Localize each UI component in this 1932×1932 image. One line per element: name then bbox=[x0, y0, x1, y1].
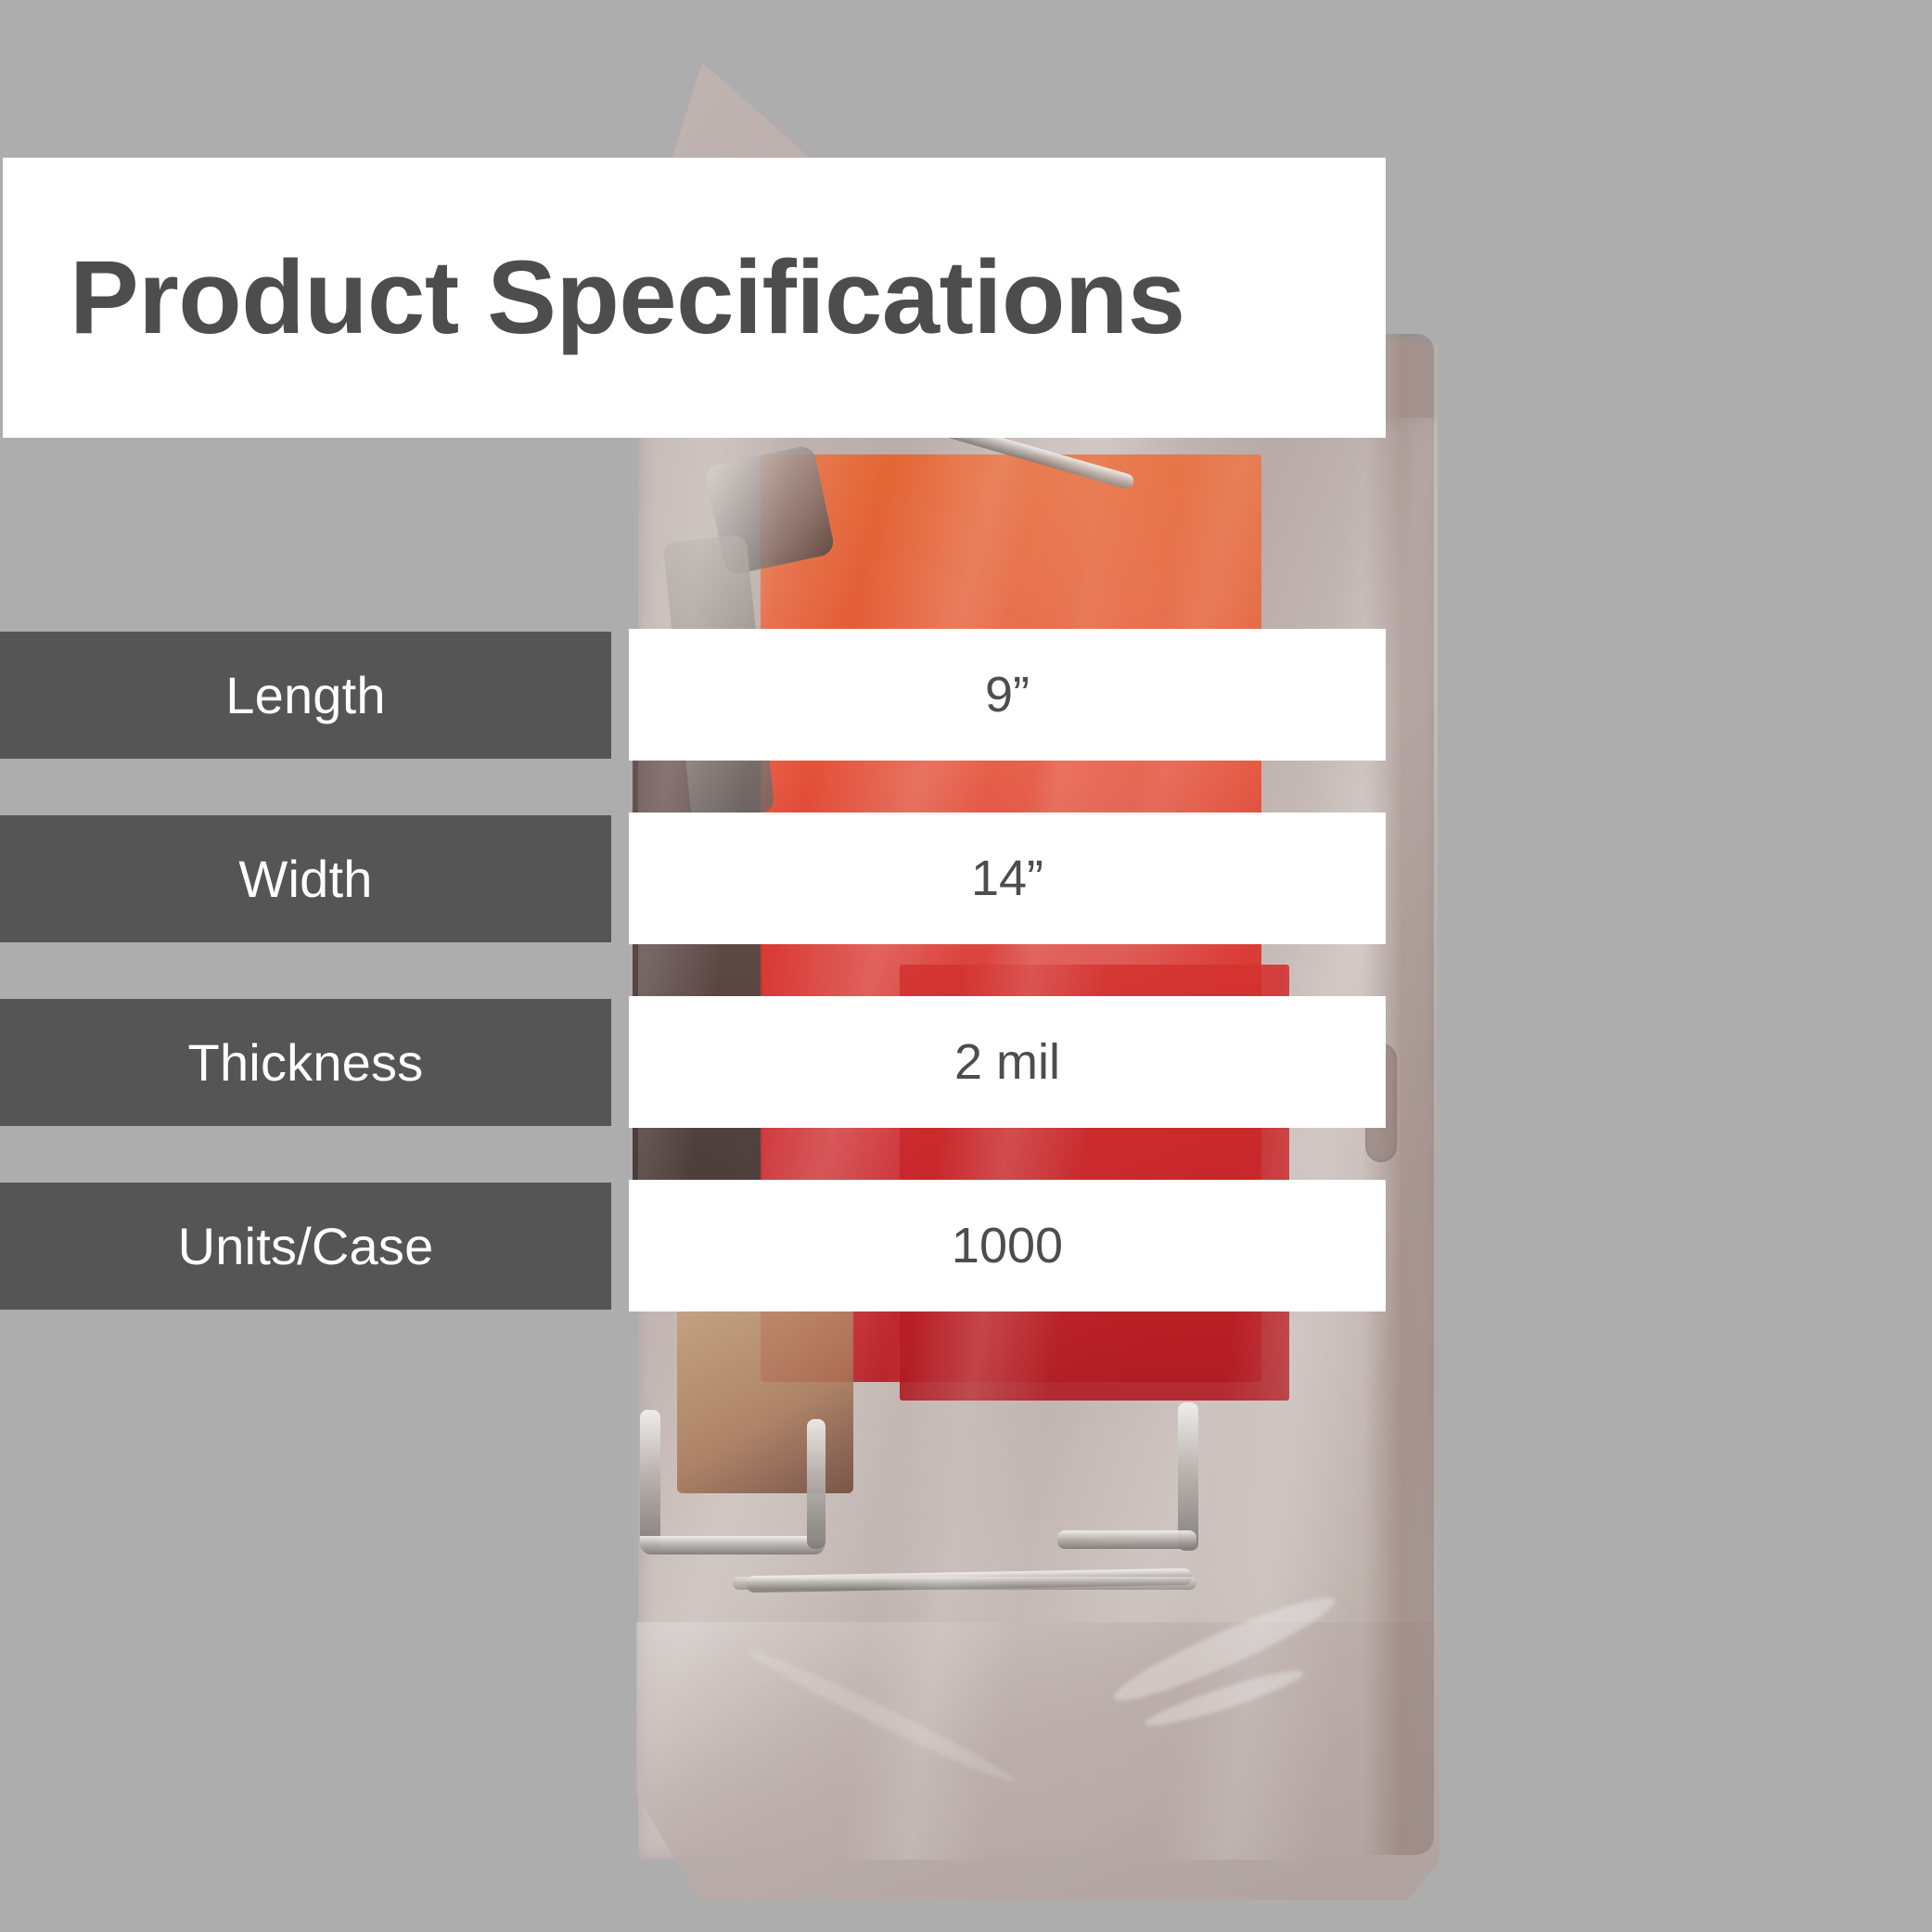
metal-tube-right-leg bbox=[1178, 1402, 1198, 1551]
spec-label-text: Length bbox=[225, 670, 385, 722]
spec-label-text: Thickness bbox=[188, 1037, 424, 1089]
spec-label-text: Units/Case bbox=[178, 1221, 434, 1273]
metal-tube-crossbar-secondary bbox=[733, 1577, 1196, 1590]
table-row: Length 9” bbox=[0, 632, 1391, 815]
spec-label-width: Width bbox=[0, 815, 611, 942]
metal-tube-left-leg bbox=[640, 1410, 660, 1549]
spec-value-units-per-case: 1000 bbox=[629, 1180, 1386, 1311]
table-row: Thickness 2 mil bbox=[0, 999, 1391, 1183]
metal-tube-left-foot bbox=[640, 1536, 825, 1555]
spec-value-width: 14” bbox=[629, 812, 1386, 944]
spec-label-length: Length bbox=[0, 632, 611, 759]
spec-label-text: Width bbox=[238, 853, 372, 905]
table-row: Width 14” bbox=[0, 815, 1391, 999]
spec-label-thickness: Thickness bbox=[0, 999, 611, 1126]
spec-value-text: 2 mil bbox=[954, 1037, 1060, 1087]
bag-bottom-seal bbox=[636, 1622, 1439, 1900]
specifications-table: Length 9” Width 14” Thickness 2 mil bbox=[0, 632, 1391, 1366]
metal-tube-right-foot bbox=[1057, 1530, 1196, 1549]
page-title: Product Specifications bbox=[3, 246, 1185, 350]
product-spec-card: Product Specifications Length 9” Width 1… bbox=[0, 0, 1932, 1932]
table-row: Units/Case 1000 bbox=[0, 1183, 1391, 1366]
spec-value-text: 9” bbox=[985, 670, 1030, 720]
spec-value-length: 9” bbox=[629, 629, 1386, 761]
spec-value-thickness: 2 mil bbox=[629, 996, 1386, 1128]
spec-value-text: 1000 bbox=[952, 1221, 1063, 1271]
metal-tube-left-inner bbox=[807, 1419, 825, 1549]
title-banner: Product Specifications bbox=[3, 158, 1386, 438]
spec-value-text: 14” bbox=[971, 853, 1043, 903]
spec-label-units-per-case: Units/Case bbox=[0, 1183, 611, 1310]
